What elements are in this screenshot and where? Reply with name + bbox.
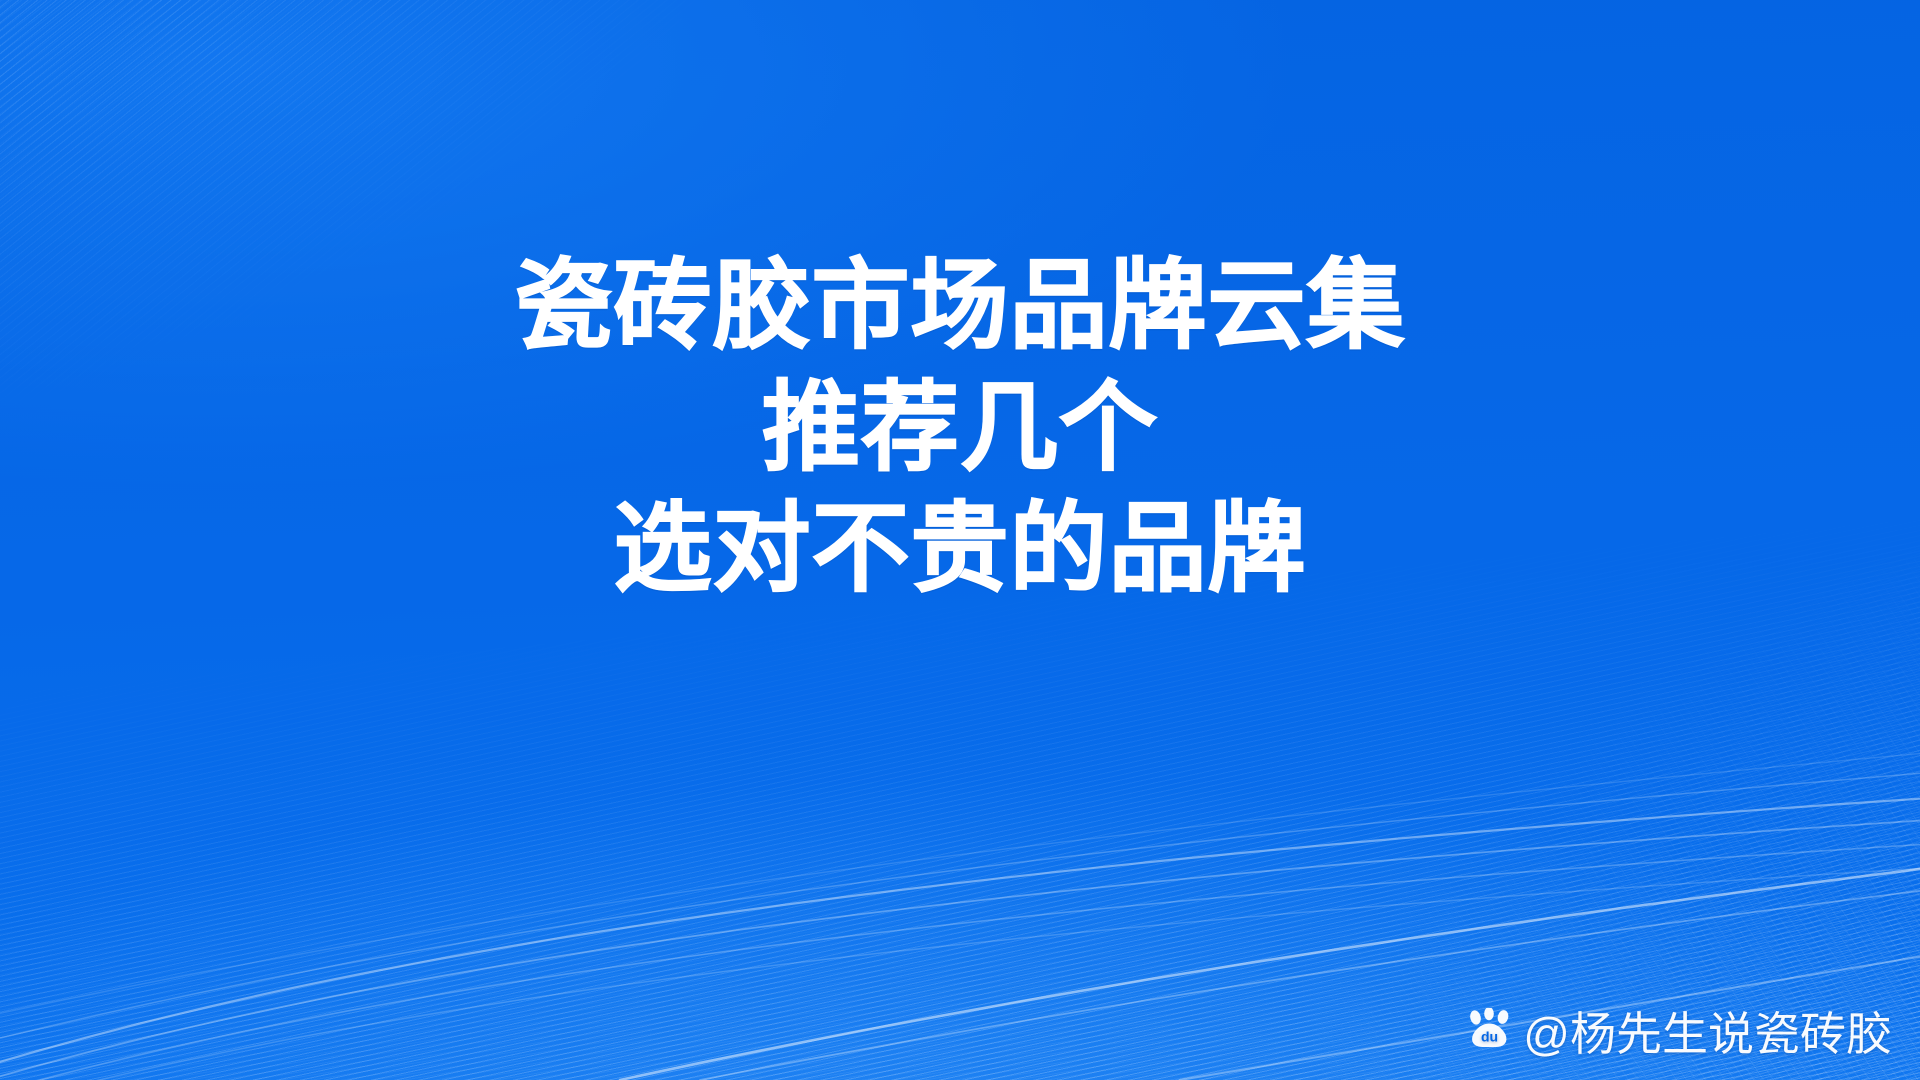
baidu-paw-logo-text: du bbox=[1481, 1029, 1498, 1045]
headline: 瓷砖胶市场品牌云集 推荐几个 选对不贵的品牌 bbox=[0, 248, 1920, 607]
watermark-handle: @杨先生说瓷砖胶 bbox=[1523, 998, 1892, 1064]
watermark: du @杨先生说瓷砖胶 bbox=[1465, 998, 1892, 1064]
headline-line-3: 选对不贵的品牌 bbox=[0, 491, 1920, 607]
baidu-paw-icon: du bbox=[1465, 1008, 1517, 1054]
headline-line-1: 瓷砖胶市场品牌云集 bbox=[0, 248, 1920, 364]
headline-line-2: 推荐几个 bbox=[0, 370, 1920, 486]
poster-canvas: 瓷砖胶市场品牌云集 推荐几个 选对不贵的品牌 du @杨先生说瓷砖胶 bbox=[0, 0, 1920, 1080]
